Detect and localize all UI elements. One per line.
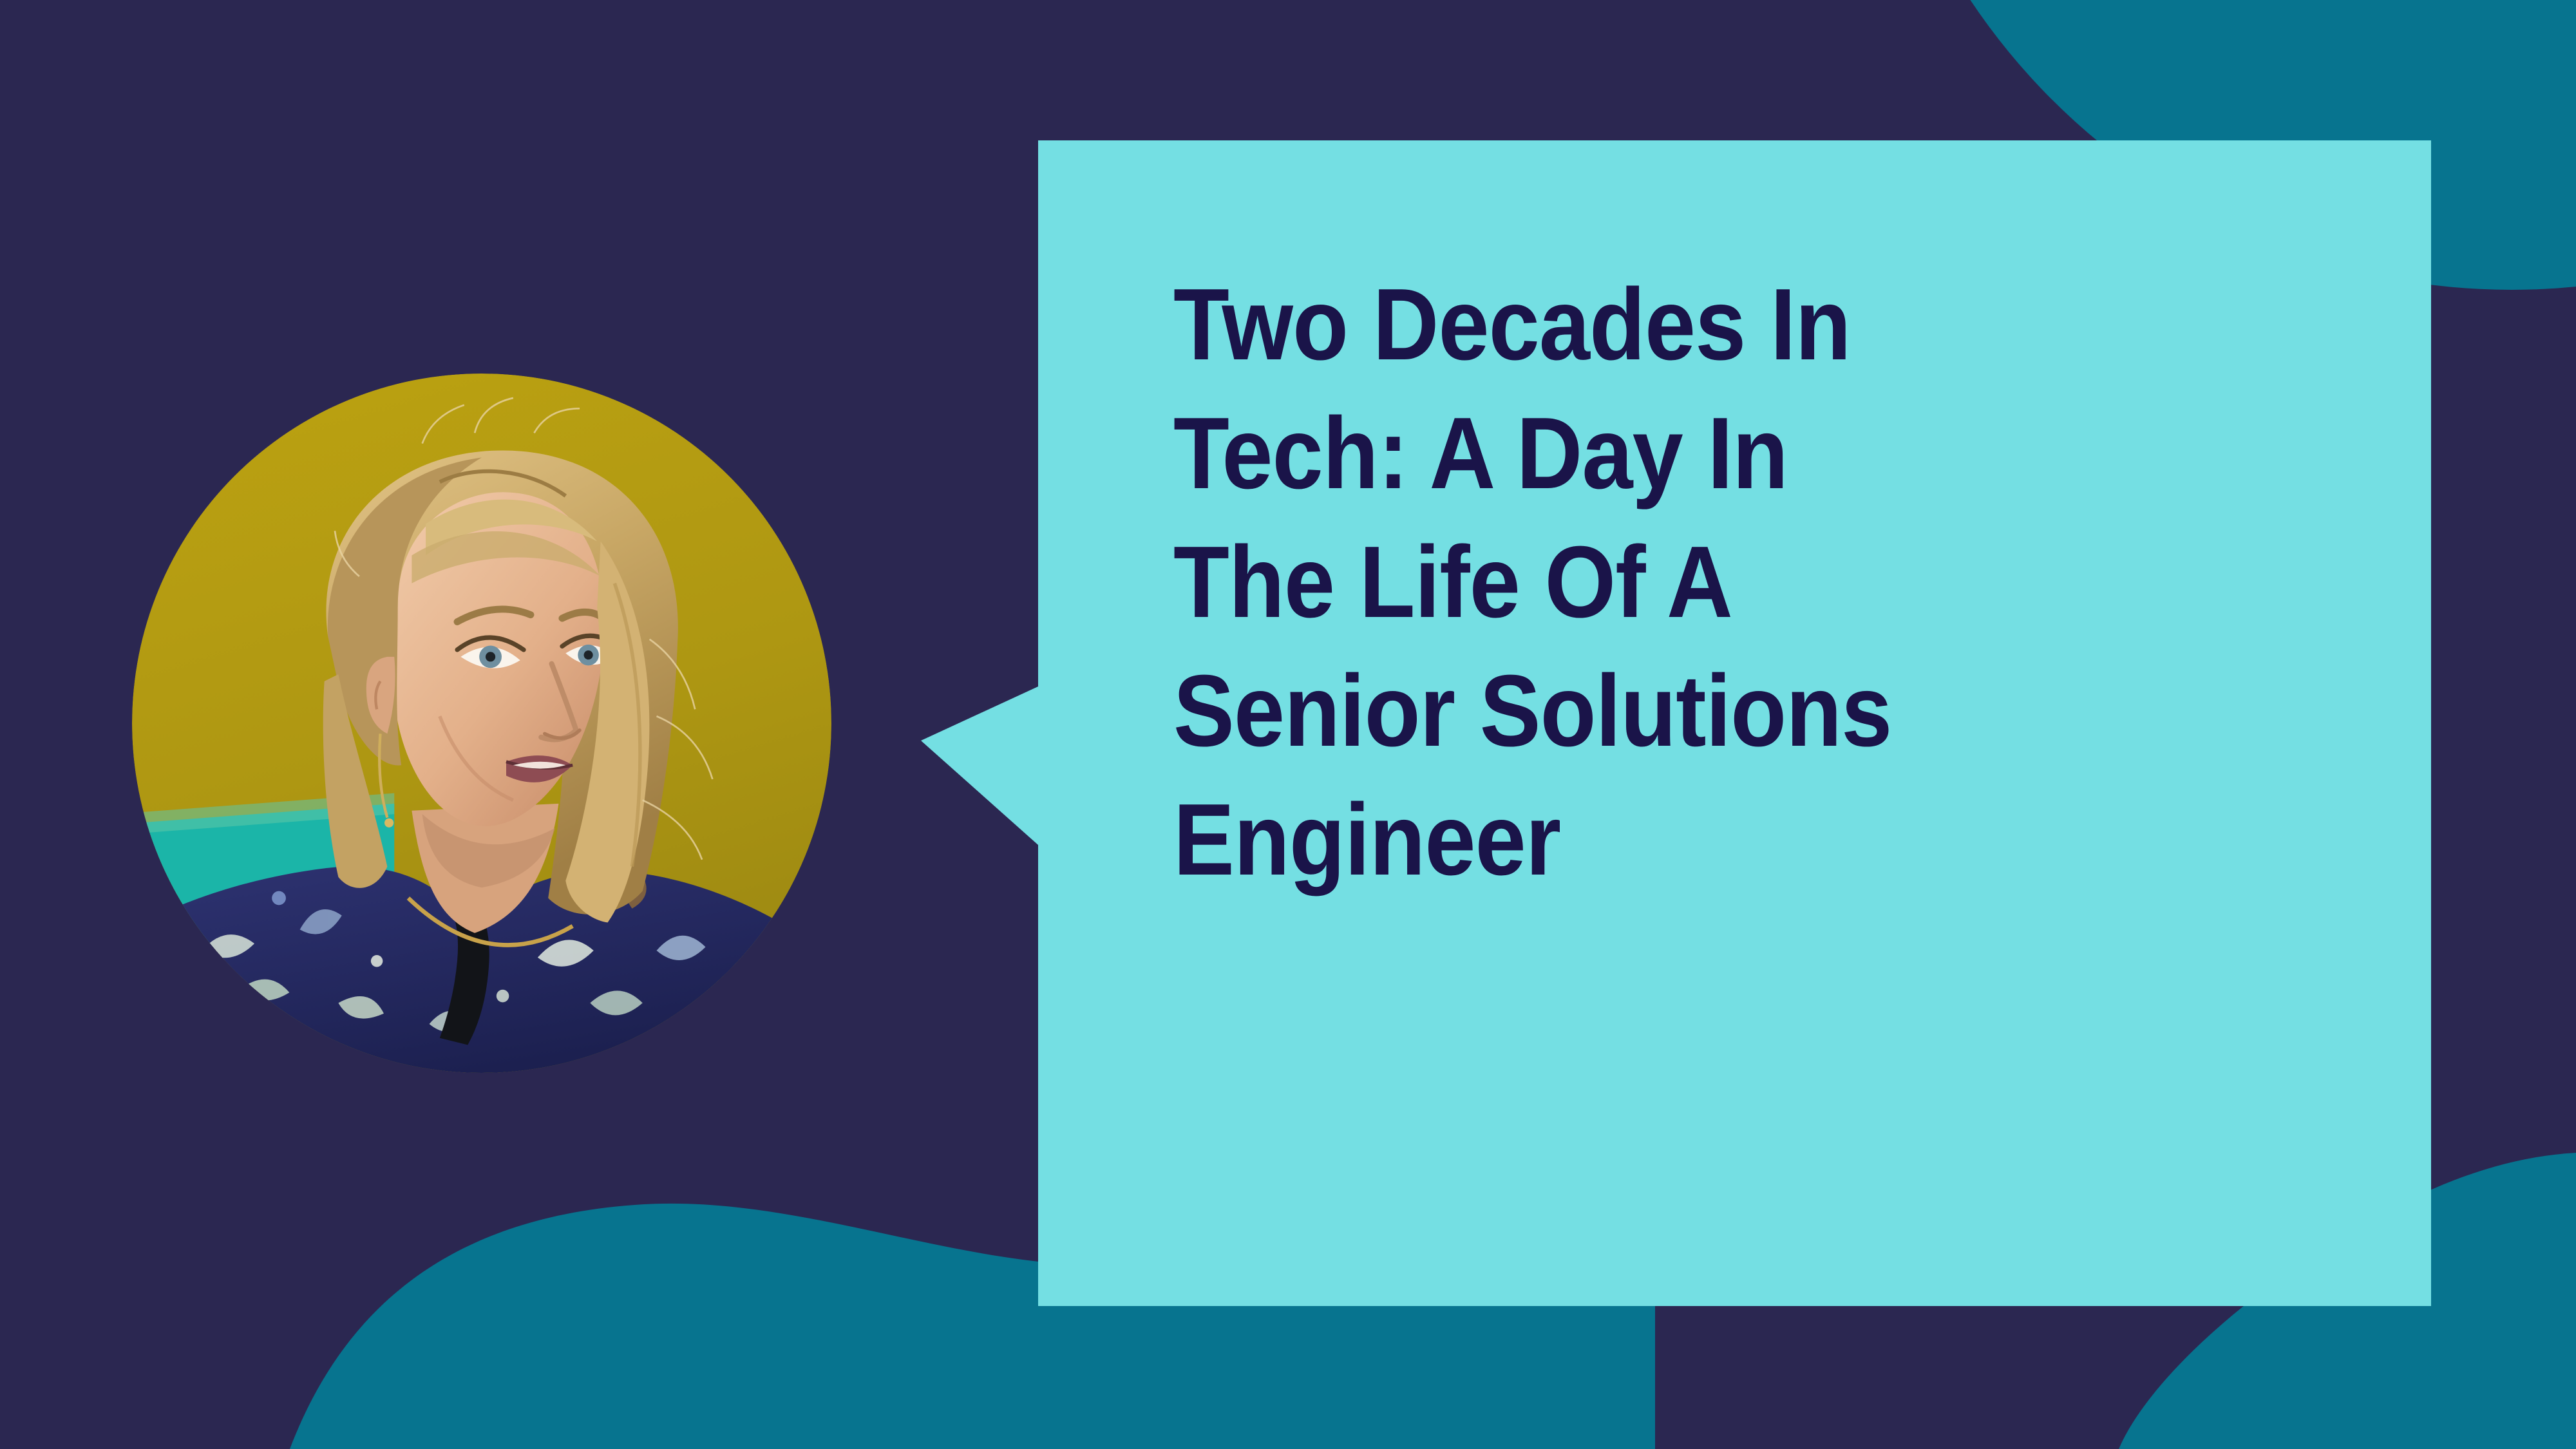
headline-block: Two Decades In Tech: A Day In The Life O…: [1173, 260, 2333, 904]
headline-line-2: Tech: A Day In: [1173, 389, 2217, 518]
speaker-portrait-photo: [132, 374, 831, 1073]
speaker-portrait-circle: [132, 374, 831, 1073]
headline-line-3: The Life Of A: [1173, 518, 2217, 647]
headline-line-1: Two Decades In: [1173, 260, 2217, 389]
headline-line-5: Engineer: [1173, 775, 2217, 904]
headline-line-4: Senior Solutions: [1173, 647, 2217, 775]
social-card-canvas: Two Decades In Tech: A Day In The Life O…: [0, 0, 2576, 1449]
